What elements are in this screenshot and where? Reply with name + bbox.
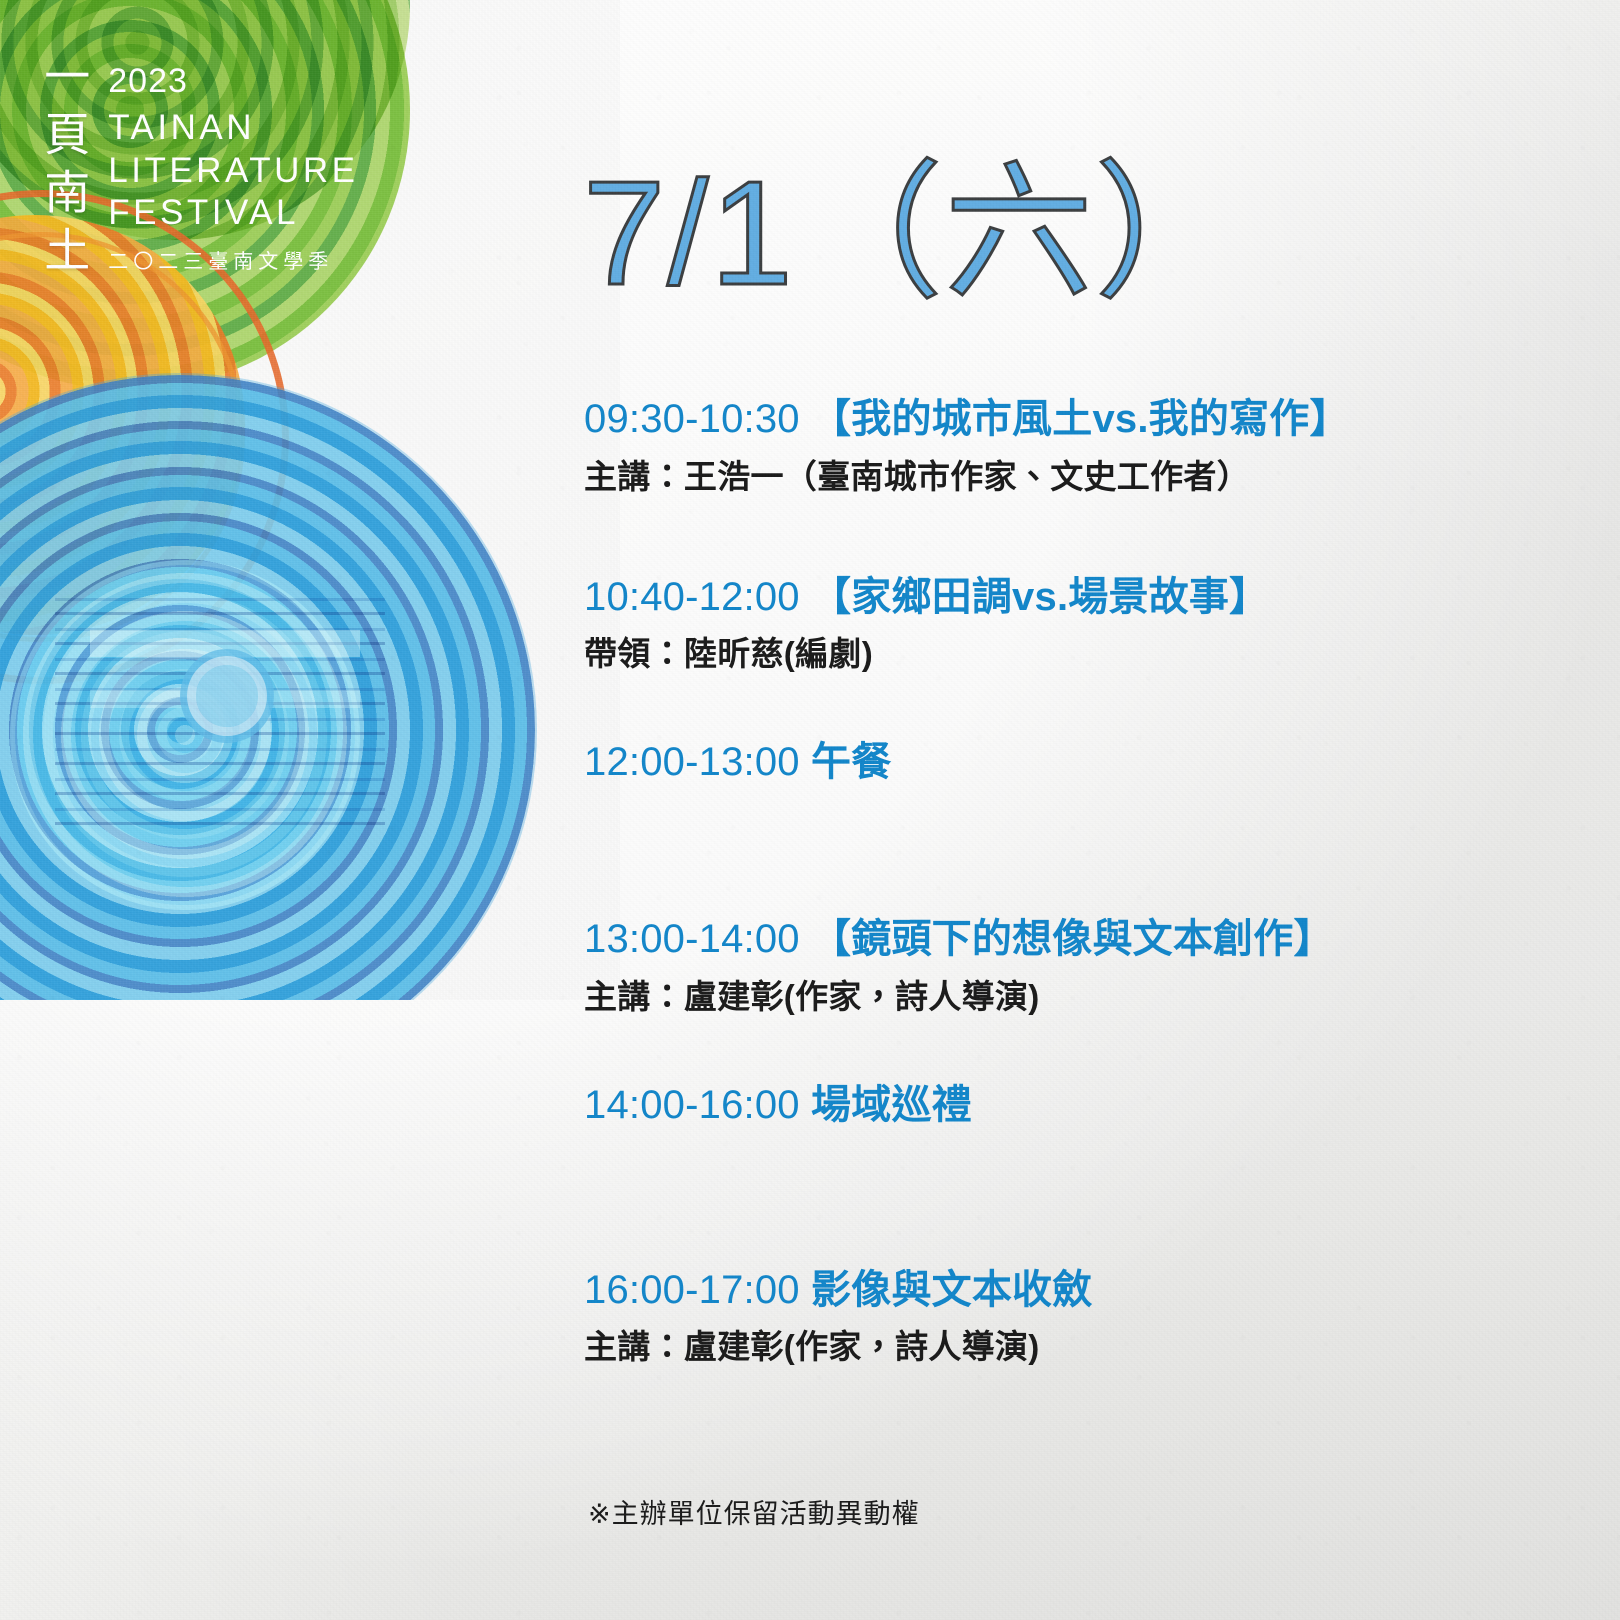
festival-logo: 一頁南土 2023 TAINAN LITERATURE FESTIVAL 二〇二… [36,52,358,284]
spacer [584,787,1564,861]
spacer [584,1130,1564,1204]
schedule-item-title: 【鏡頭下的想像與文本創作】 [811,917,1334,961]
page-title: 7/1（六） [583,160,1245,308]
schedule-item-speaker: 主講：盧建彰(作家，詩人導演) [584,1326,1564,1369]
list-item: 10:40-12:00 【家鄉田調vs.場景故事】 帶領：陸昕慈(編劇) [584,573,1564,677]
schedule-item-time: 14:00-16:00 [584,1083,800,1127]
spacer [584,1019,1564,1081]
schedule-item-heading: 12:00-13:00 午餐 [584,738,1564,787]
logo-line-tainan: TAINAN [108,107,358,150]
list-item: 09:30-10:30 【我的城市風土vs.我的寫作】 主講：王浩一（臺南城市作… [584,395,1564,499]
schedule-item-heading: 14:00-16:00 場域巡禮 [584,1081,1564,1130]
schedule-item-time: 12:00-13:00 [584,740,800,784]
schedule-item-time: 10:40-12:00 [584,575,800,619]
schedule-item-speaker: 主講：盧建彰(作家，詩人導演) [584,976,1564,1019]
schedule-item-speaker: 主講：王浩一（臺南城市作家、文史工作者） [584,456,1564,499]
logo-line-literature: LITERATURE [108,150,358,193]
schedule-item-heading: 09:30-10:30 【我的城市風土vs.我的寫作】 [584,395,1564,444]
spacer [584,861,1564,915]
schedule-item-heading: 10:40-12:00 【家鄉田調vs.場景故事】 [584,573,1564,622]
schedule-item-title: 【我的城市風土vs.我的寫作】 [811,397,1350,441]
content-column: 7/1（六） 09:30-10:30 【我的城市風土vs.我的寫作】 主講：王浩… [584,0,1584,1620]
schedule-item-heading: 16:00-17:00 影像與文本收斂 [584,1266,1564,1315]
logo-chinese-subtitle: 二〇二三臺南文學季 [108,245,358,274]
schedule-item-title: 場域巡禮 [811,1083,972,1127]
schedule-item-title: 【家鄉田調vs.場景故事】 [811,575,1269,619]
spacer [584,676,1564,738]
poster-canvas: 一頁南土 2023 TAINAN LITERATURE FESTIVAL 二〇二… [0,0,1620,1620]
schedule-list: 09:30-10:30 【我的城市風土vs.我的寫作】 主講：王浩一（臺南城市作… [584,395,1564,1369]
logo-english-lockup: 2023 TAINAN LITERATURE FESTIVAL 二〇二三臺南文學… [108,64,358,274]
schedule-item-title: 午餐 [811,740,891,784]
list-item: 13:00-14:00 【鏡頭下的想像與文本創作】 主講：盧建彰(作家，詩人導演… [584,915,1564,1019]
list-item: 12:00-13:00 午餐 [584,738,1564,787]
logo-year: 2023 [108,64,358,98]
footer-note: ※主辦單位保留活動異動權 [588,1492,920,1531]
schedule-item-speaker: 帶領：陸昕慈(編劇) [584,633,1564,676]
schedule-item-title: 影像與文本收斂 [811,1268,1092,1312]
schedule-item-time: 13:00-14:00 [584,917,800,961]
list-item: 16:00-17:00 影像與文本收斂 主講：盧建彰(作家，詩人導演) [584,1266,1564,1370]
spacer [584,499,1564,573]
ripple-center-dot-icon [196,665,258,727]
spacer [584,1204,1564,1266]
logo-line-festival: FESTIVAL [108,192,358,235]
list-item: 14:00-16:00 場域巡禮 [584,1081,1564,1130]
schedule-item-heading: 13:00-14:00 【鏡頭下的想像與文本創作】 [584,915,1564,964]
schedule-item-time: 16:00-17:00 [584,1268,800,1312]
logo-vertical-title: 一頁南土 [36,52,90,284]
schedule-item-time: 09:30-10:30 [584,397,800,441]
